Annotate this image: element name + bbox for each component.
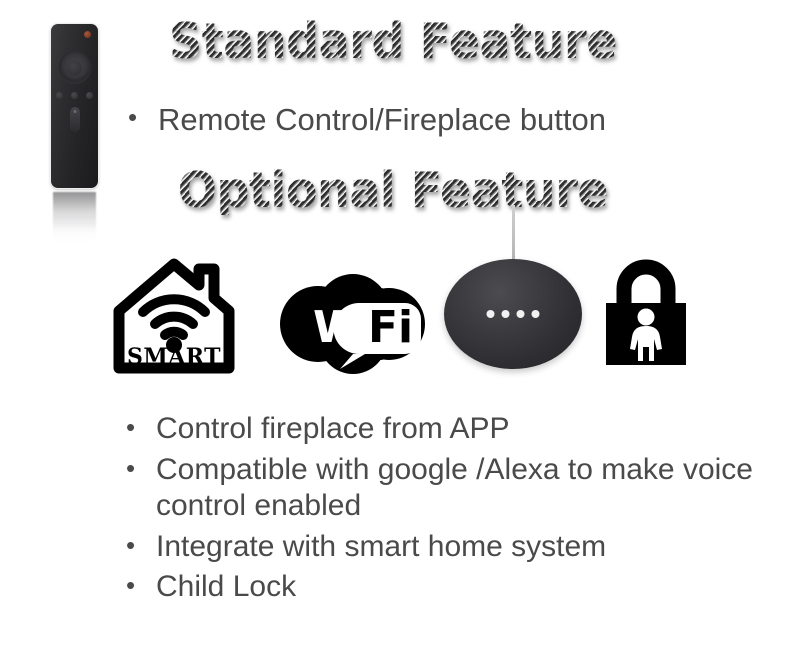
- list-item: • Child Lock: [126, 569, 776, 606]
- bullet-marker-icon: •: [126, 569, 156, 603]
- nest-mini-cable: [512, 205, 515, 263]
- remote-control-image: [51, 24, 98, 188]
- list-item-label: Compatible with google /Alexa to make vo…: [156, 452, 776, 525]
- list-item: • Control fireplace from APP: [126, 411, 776, 448]
- remote-button-center-icon: [71, 92, 78, 99]
- nest-mini-led-row: [487, 310, 540, 318]
- nest-mini-body: [444, 259, 582, 369]
- nest-mini-led-icon: [517, 310, 525, 318]
- remote-reflection: [53, 192, 96, 244]
- wifi-logo: Wi Fi: [277, 270, 429, 383]
- child-lock-icon: [604, 257, 688, 372]
- list-item-label: Integrate with smart home system: [156, 529, 776, 566]
- remote-button-left-icon: [56, 92, 63, 99]
- list-item: • Integrate with smart home system: [126, 529, 776, 566]
- list-item-label: Control fireplace from APP: [156, 411, 776, 448]
- bullet-marker-icon: •: [126, 452, 156, 486]
- nest-mini-led-icon: [487, 310, 495, 318]
- remote-button-right-icon: [86, 92, 93, 99]
- smart-home-caption: SMART: [127, 344, 221, 370]
- optional-feature-list: • Control fireplace from APP • Compatibl…: [126, 411, 776, 610]
- wifi-logo-text-fi: Fi: [368, 302, 413, 353]
- nest-mini-led-icon: [502, 310, 510, 318]
- nest-mini-led-icon: [532, 310, 540, 318]
- remote-body: [51, 24, 98, 188]
- remote-dpad-icon: [58, 51, 91, 84]
- page-title-standard-feature: Standard Feature: [24, 17, 763, 66]
- list-item-label: Child Lock: [156, 569, 776, 606]
- list-item: • Compatible with google /Alexa to make …: [126, 452, 776, 525]
- remote-power-button-icon: [84, 31, 91, 38]
- page-title-optional-feature: Optional Feature: [24, 166, 763, 215]
- smart-home-icon: SMART: [113, 256, 235, 379]
- remote-button-row: [56, 92, 93, 99]
- list-item-label: Remote Control/Fireplace button: [158, 101, 728, 139]
- list-item: • Remote Control/Fireplace button: [128, 101, 728, 139]
- remote-rocker-switch-icon: [70, 107, 80, 132]
- bullet-marker-icon: •: [126, 529, 156, 563]
- bullet-marker-icon: •: [126, 411, 156, 445]
- bullet-marker-icon: •: [128, 101, 158, 135]
